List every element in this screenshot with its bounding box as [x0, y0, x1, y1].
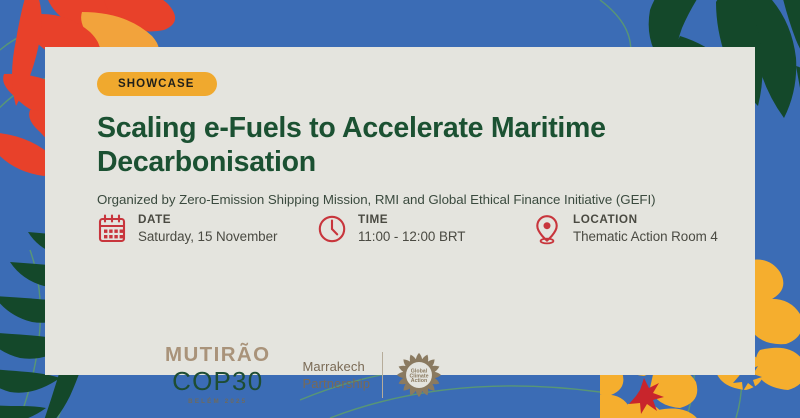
- emblem-line-3: Action: [411, 378, 427, 384]
- detail-date-value: Saturday, 15 November: [138, 229, 277, 244]
- page-title: Scaling e-Fuels to Accelerate Maritime D…: [97, 112, 707, 180]
- calendar-icon: [97, 213, 127, 245]
- cop30-mutirao-text: MUTIRÃO: [165, 345, 270, 366]
- cop30-city-text: BELÉM 2025: [165, 398, 270, 405]
- detail-location-value: Thematic Action Room 4: [573, 229, 718, 244]
- detail-time-value: 11:00 - 12:00 BRT: [358, 229, 465, 244]
- showcase-badge: SHOWCASE: [97, 72, 217, 96]
- organizer-text: Organized by Zero-Emission Shipping Miss…: [97, 192, 731, 207]
- clock-icon: [317, 213, 347, 245]
- global-climate-action-emblem: Global Climate Action: [395, 351, 443, 399]
- cop30-logo: MUTIRÃO COP30 BELÉM 2025: [165, 345, 270, 405]
- detail-location: LOCATION Thematic Action Room 4: [532, 212, 718, 245]
- map-pin-icon: [532, 213, 562, 245]
- detail-time-label: TIME: [358, 213, 465, 226]
- detail-location-label: LOCATION: [573, 213, 718, 226]
- marrakech-partnership-text: Marrakech Partnership: [302, 358, 370, 392]
- marrakech-line-2: Partnership: [302, 375, 370, 392]
- event-details-row: DATE Saturday, 15 November TIME 11:00 - …: [97, 212, 718, 245]
- event-poster: SHOWCASE Scaling e-Fuels to Accelerate M…: [0, 0, 800, 418]
- detail-date-text: DATE Saturday, 15 November: [138, 212, 277, 244]
- detail-time: TIME 11:00 - 12:00 BRT: [317, 212, 532, 245]
- logo-bar: MUTIRÃO COP30 BELÉM 2025 Marrakech Partn…: [165, 345, 443, 405]
- detail-location-text: LOCATION Thematic Action Room 4: [573, 212, 718, 244]
- detail-date: DATE Saturday, 15 November: [97, 212, 317, 245]
- cop30-name-text: COP30: [165, 367, 270, 395]
- detail-date-label: DATE: [138, 213, 277, 226]
- event-card: SHOWCASE Scaling e-Fuels to Accelerate M…: [45, 47, 755, 375]
- marrakech-partnership-logo: Marrakech Partnership Global Climate Act…: [302, 351, 443, 399]
- card-header: SHOWCASE Scaling e-Fuels to Accelerate M…: [97, 72, 731, 207]
- logo-divider: [382, 352, 383, 398]
- marrakech-line-1: Marrakech: [302, 358, 370, 375]
- detail-time-text: TIME 11:00 - 12:00 BRT: [358, 212, 465, 244]
